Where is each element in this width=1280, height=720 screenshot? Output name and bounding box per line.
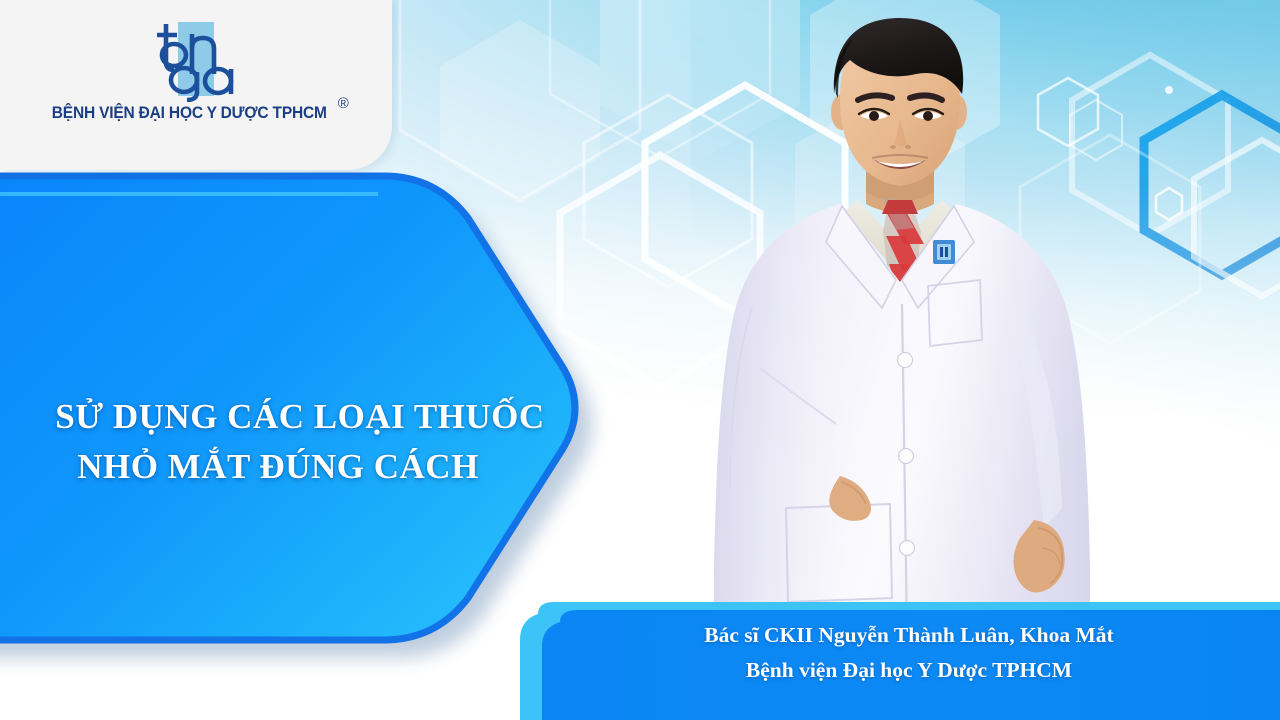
hospital-logo-card: BỆNH VIỆN ĐẠI HỌC Y DƯỢC TPHCM ® (0, 0, 392, 170)
title-line-2: NHỎ MẮT ĐÚNG CÁCH (0, 442, 600, 492)
registered-trademark-icon: ® (338, 95, 349, 112)
hospital-name-row: BỆNH VIỆN ĐẠI HỌC Y DƯỢC TPHCM ® (0, 104, 392, 123)
caption-line-2: Bệnh viện Đại học Y Dược TPHCM (576, 653, 1242, 688)
video-thumbnail-slide: SỬ DỤNG CÁC LOẠI THUỐC NHỎ MẮT ĐÚNG CÁCH (0, 0, 1280, 720)
speaker-caption-text: Bác sĩ CKII Nguyễn Thành Luân, Khoa Mắt … (576, 618, 1242, 688)
hospital-name: BỆNH VIỆN ĐẠI HỌC Y DƯỢC TPHCM (52, 104, 327, 123)
slide-title: SỬ DỤNG CÁC LOẠI THUỐC NHỎ MẮT ĐÚNG CÁCH (0, 392, 600, 491)
bvdhyd-monogram-icon (146, 18, 246, 102)
caption-line-1: Bác sĩ CKII Nguyễn Thành Luân, Khoa Mắt (576, 618, 1242, 653)
title-line-1: SỬ DỤNG CÁC LOẠI THUỐC (0, 392, 600, 442)
speaker-caption-banner: Bác sĩ CKII Nguyễn Thành Luân, Khoa Mắt … (520, 600, 1280, 720)
doctor-portrait (690, 8, 1120, 698)
